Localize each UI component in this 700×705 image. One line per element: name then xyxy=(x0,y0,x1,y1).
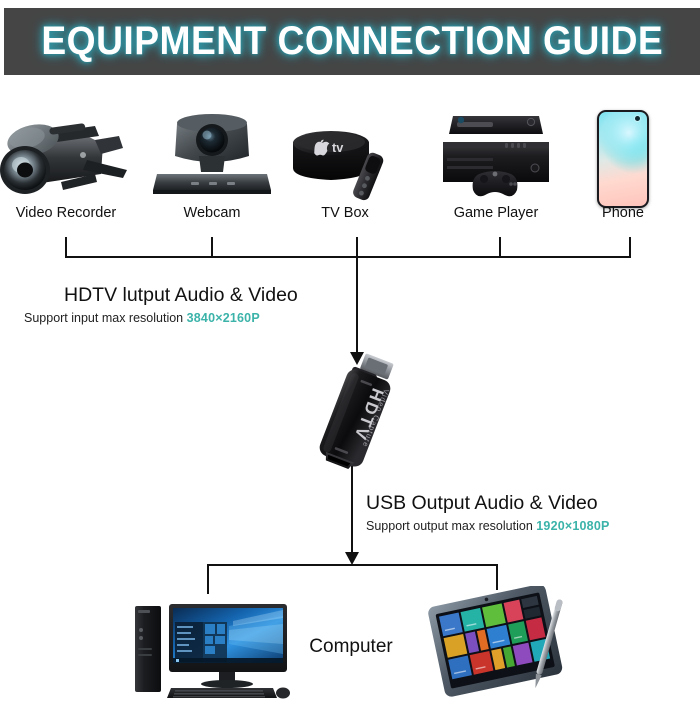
device-tablet-icon xyxy=(428,586,580,700)
input-flow-support: Support input max resolution 3840×2160P xyxy=(24,311,260,325)
drop-phone xyxy=(629,237,631,258)
drop-game-player xyxy=(499,237,501,258)
guide-page: EQUIPMENT CONNECTION GUIDE xyxy=(0,0,700,700)
label-webcam: Webcam xyxy=(184,205,241,221)
label-computer: Computer xyxy=(309,636,392,658)
label-tv-box: TV Box xyxy=(321,205,369,221)
output-stem-line xyxy=(351,466,353,558)
device-desktop-pc-icon xyxy=(133,596,291,700)
input-stem-line xyxy=(356,257,358,354)
page-title: EQUIPMENT CONNECTION GUIDE xyxy=(41,19,663,64)
capture-device-icon: HDTV Video Capture xyxy=(300,352,410,470)
output-support-prefix: Support output max resolution xyxy=(366,519,533,533)
input-bus-line xyxy=(65,256,631,258)
input-flow-title: HDTV lutput Audio & Video xyxy=(64,284,298,307)
input-support-prefix: Support input max resolution xyxy=(24,311,183,325)
drop-desktop-pc xyxy=(207,564,209,594)
label-game-player: Game Player xyxy=(454,205,539,221)
output-resolution: 1920×1080P xyxy=(536,519,609,533)
label-video-recorder: Video Recorder xyxy=(16,205,117,221)
device-phone-icon xyxy=(597,110,649,210)
device-game-player-icon xyxy=(431,110,561,205)
drop-tv-box xyxy=(356,237,358,258)
output-flow-title: USB Output Audio & Video xyxy=(366,492,598,515)
output-flow-support: Support output max resolution 1920×1080P xyxy=(366,519,610,533)
svg-text:tv: tv xyxy=(332,140,344,155)
input-resolution: 3840×2160P xyxy=(187,311,260,325)
page-banner: EQUIPMENT CONNECTION GUIDE xyxy=(4,8,700,75)
drop-webcam xyxy=(211,237,213,258)
device-webcam-icon xyxy=(147,112,277,202)
drop-video-recorder xyxy=(65,237,67,258)
device-tv-box-icon: tv xyxy=(285,118,405,208)
label-phone: Phone xyxy=(602,205,644,221)
device-video-recorder-icon xyxy=(0,108,141,203)
output-bus-line xyxy=(207,564,498,566)
